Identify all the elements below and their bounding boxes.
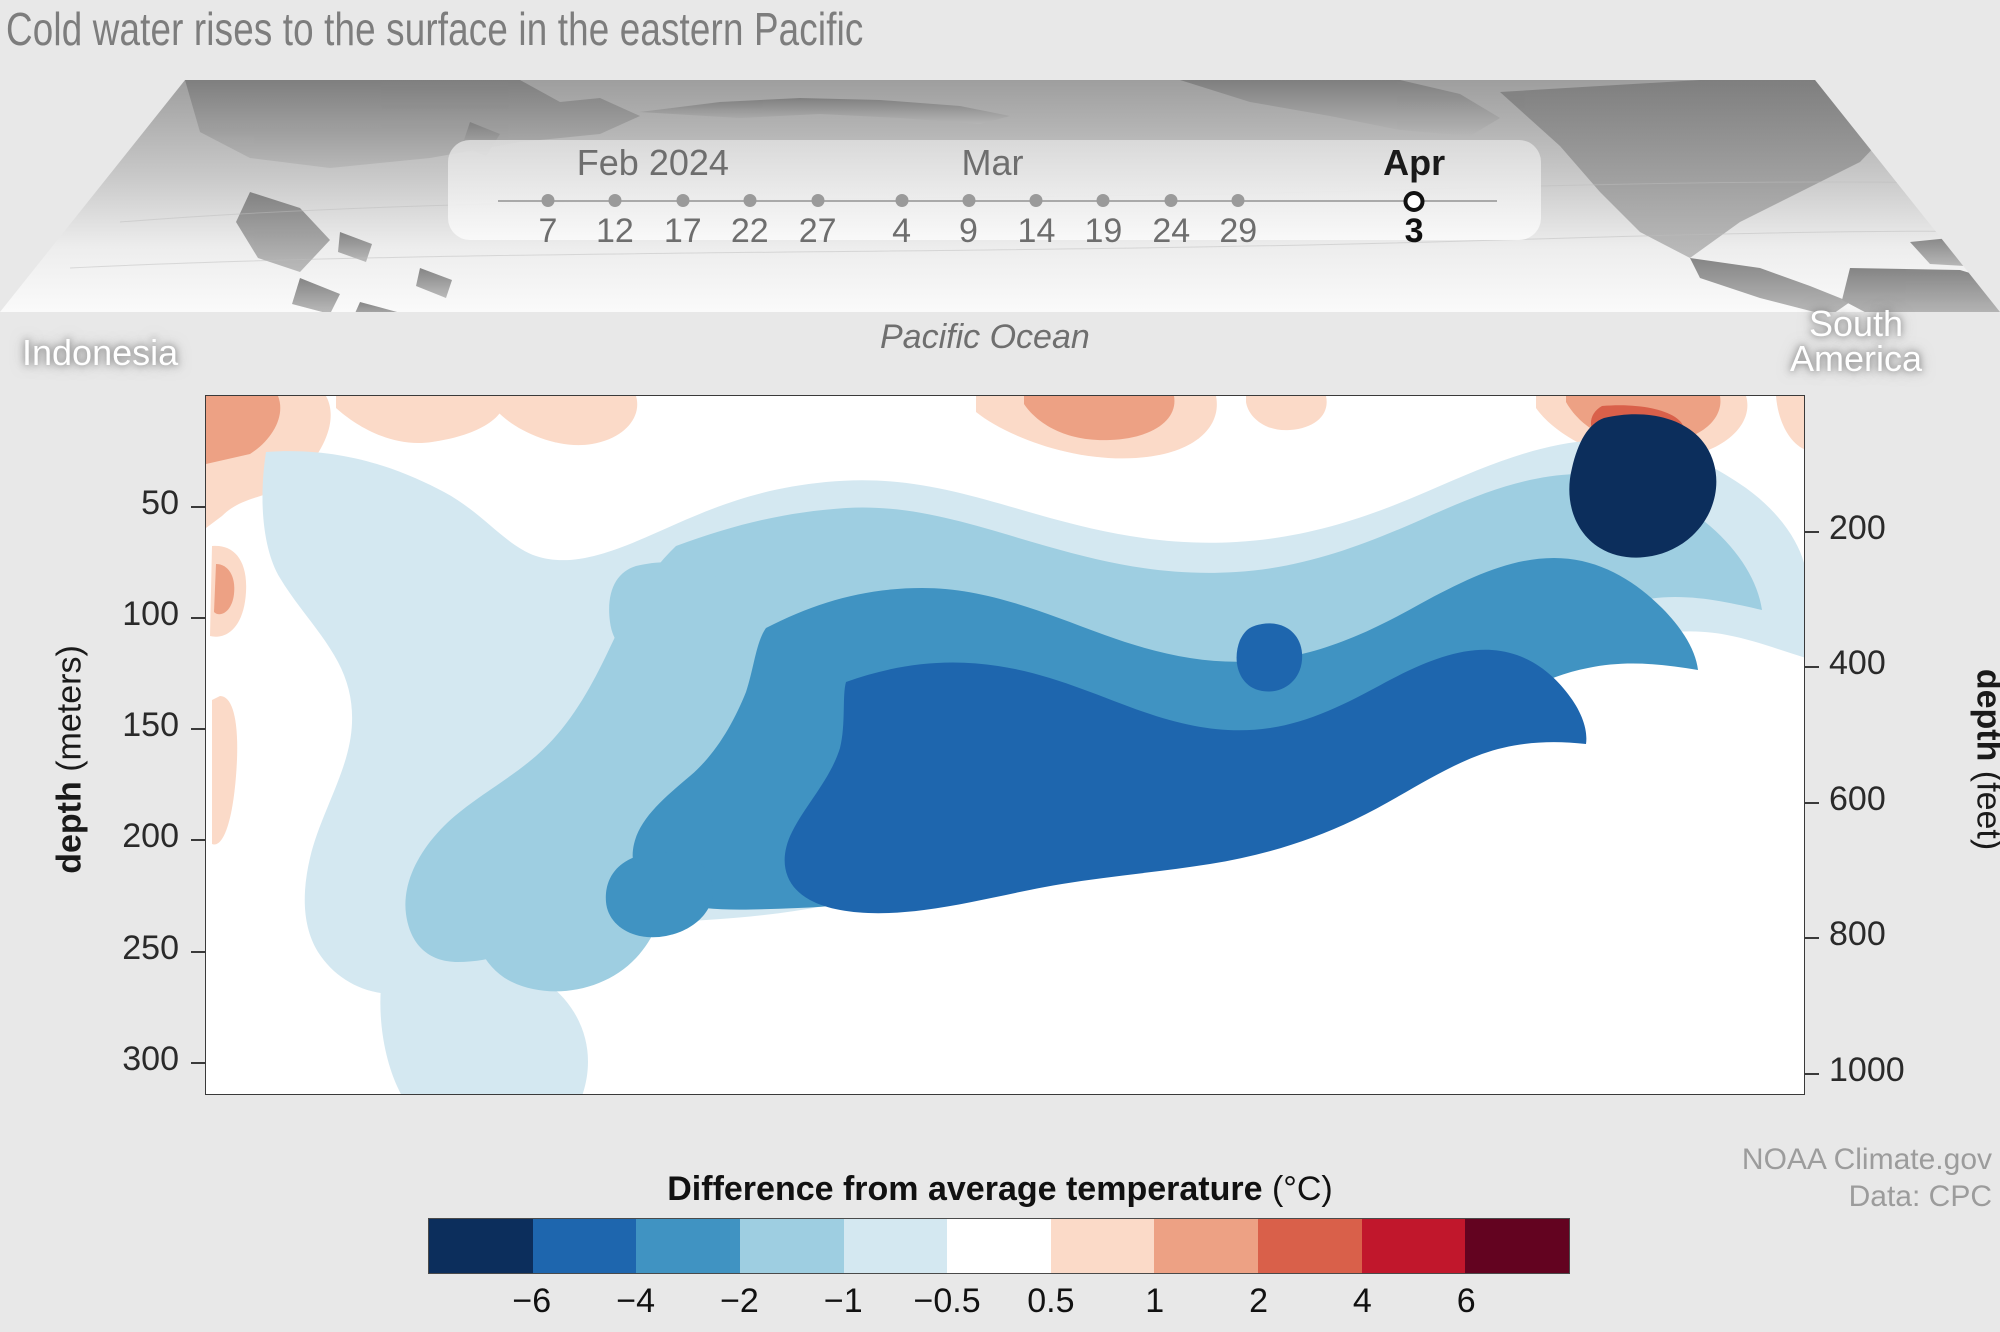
colorbar-swatch — [429, 1219, 533, 1273]
left-axis-tickmark — [191, 839, 205, 841]
timeline-tick-dot[interactable] — [743, 194, 756, 207]
timeline-tick-dot[interactable] — [962, 194, 975, 207]
colorbar-tick-labels: −6−4−2−1−0.50.51246 — [428, 1282, 1570, 1326]
timeline-day-label[interactable]: 12 — [596, 212, 634, 251]
left-axis-tick-label: 250 — [0, 929, 179, 968]
map-label-south-america-line2: America — [1790, 341, 1922, 376]
map-label-pacific-ocean: Pacific Ocean — [880, 318, 1090, 357]
left-axis-tickmark — [191, 617, 205, 619]
right-axis-tickmark — [1805, 1073, 1819, 1075]
left-axis-tick-label: 100 — [0, 595, 179, 634]
right-axis-tick-label: 600 — [1829, 780, 1886, 819]
timeline-tick-dot[interactable] — [1097, 194, 1110, 207]
colorbar-title-unit: (°C) — [1262, 1170, 1332, 1208]
left-axis-title: depth (meters) — [51, 610, 90, 910]
colorbar-tick-label: 1 — [1145, 1282, 1164, 1321]
timeline-tick-dot[interactable] — [895, 194, 908, 207]
right-axis-tickmark — [1805, 531, 1819, 533]
colorbar-swatch — [1154, 1219, 1258, 1273]
colorbar-tick-label: 2 — [1249, 1282, 1268, 1321]
colorbar-tick-label: −1 — [824, 1282, 863, 1321]
map-label-indonesia: Indonesia — [22, 332, 178, 374]
colorbar — [428, 1218, 1570, 1274]
left-axis-tickmark — [191, 951, 205, 953]
colorbar-swatch — [1051, 1219, 1155, 1273]
colorbar-swatch — [1258, 1219, 1362, 1273]
timeline-month-feb: Feb 2024 — [577, 142, 729, 184]
left-axis-tick-label: 150 — [0, 706, 179, 745]
left-axis-title-unit: (meters) — [51, 645, 89, 781]
timeline-month-apr: Apr — [1383, 142, 1445, 184]
right-axis-tick-label: 200 — [1829, 509, 1886, 548]
left-axis-tick-label: 50 — [0, 484, 179, 523]
right-axis-tickmark — [1805, 666, 1819, 668]
timeline-tick-dot[interactable] — [1232, 194, 1245, 207]
left-axis-tickmark — [191, 506, 205, 508]
right-axis-title-unit: (feet) — [1970, 761, 2000, 850]
timeline-month-row: Feb 2024MarApr — [448, 140, 1541, 186]
right-axis-tick-label: 1000 — [1829, 1051, 1905, 1090]
credit-line-1: NOAA Climate.gov — [1742, 1142, 1992, 1179]
colorbar-tick-label: 0.5 — [1027, 1282, 1074, 1321]
left-axis-title-bold: depth — [51, 781, 89, 874]
colorbar-tick-label: −6 — [512, 1282, 551, 1321]
left-axis-tickmark — [191, 1062, 205, 1064]
colorbar-tick-label: −4 — [616, 1282, 655, 1321]
timeline-control[interactable]: Feb 2024MarApr 71217222749141924293 — [448, 140, 1541, 240]
timeline-day-label[interactable]: 4 — [892, 212, 911, 251]
right-axis-title-bold: depth — [1970, 669, 2000, 762]
timeline-tick-dot[interactable] — [811, 194, 824, 207]
page-title: Cold water rises to the surface in the e… — [6, 2, 863, 56]
right-axis-tick-label: 400 — [1829, 644, 1886, 683]
left-axis-tick-label: 300 — [0, 1040, 179, 1079]
right-axis-title: depth (feet) — [1969, 610, 2000, 910]
colorbar-title: Difference from average temperature (°C) — [667, 1170, 1332, 1209]
credit-block: NOAA Climate.gov Data: CPC — [1742, 1142, 1992, 1215]
timeline-day-label[interactable]: 14 — [1018, 212, 1056, 251]
colorbar-title-main: Difference from average temperature — [667, 1170, 1262, 1208]
timeline-day-label[interactable]: 9 — [959, 212, 978, 251]
colorbar-swatch — [533, 1219, 637, 1273]
left-axis-tickmark — [191, 728, 205, 730]
colorbar-swatch — [1362, 1219, 1466, 1273]
colorbar-swatch — [740, 1219, 844, 1273]
timeline-day-label[interactable]: 22 — [731, 212, 769, 251]
left-axis-tick-label: 200 — [0, 817, 179, 856]
timeline-day-label[interactable]: 19 — [1084, 212, 1122, 251]
timeline-current-marker[interactable] — [1404, 191, 1425, 212]
timeline-month-mar: Mar — [962, 142, 1024, 184]
timeline-tick-dot[interactable] — [608, 194, 621, 207]
timeline-day-label[interactable]: 7 — [538, 212, 557, 251]
timeline-tick-dot[interactable] — [541, 194, 554, 207]
right-axis-tickmark — [1805, 802, 1819, 804]
depth-time-contour-plot — [205, 395, 1805, 1095]
colorbar-swatch — [1465, 1219, 1569, 1273]
timeline-day-label[interactable]: 3 — [1405, 212, 1424, 251]
colorbar-swatch — [947, 1219, 1051, 1273]
colorbar-swatch — [636, 1219, 740, 1273]
timeline-day-label[interactable]: 27 — [799, 212, 837, 251]
colorbar-tick-label: 6 — [1457, 1282, 1476, 1321]
timeline-day-label[interactable]: 24 — [1152, 212, 1190, 251]
right-axis-tick-label: 800 — [1829, 915, 1886, 954]
credit-line-2: Data: CPC — [1742, 1179, 1992, 1216]
right-axis-tickmark — [1805, 937, 1819, 939]
timeline-axis-line — [498, 200, 1497, 202]
colorbar-tick-label: −0.5 — [914, 1282, 981, 1321]
timeline-day-label[interactable]: 17 — [664, 212, 702, 251]
timeline-tick-dot[interactable] — [1165, 194, 1178, 207]
colorbar-tick-label: −2 — [720, 1282, 759, 1321]
colorbar-swatch — [844, 1219, 948, 1273]
cold-anomaly-layer — [206, 396, 1805, 1095]
colorbar-tick-label: 4 — [1353, 1282, 1372, 1321]
timeline-tick-dot[interactable] — [676, 194, 689, 207]
timeline-day-label[interactable]: 29 — [1219, 212, 1257, 251]
timeline-tick-dot[interactable] — [1030, 194, 1043, 207]
